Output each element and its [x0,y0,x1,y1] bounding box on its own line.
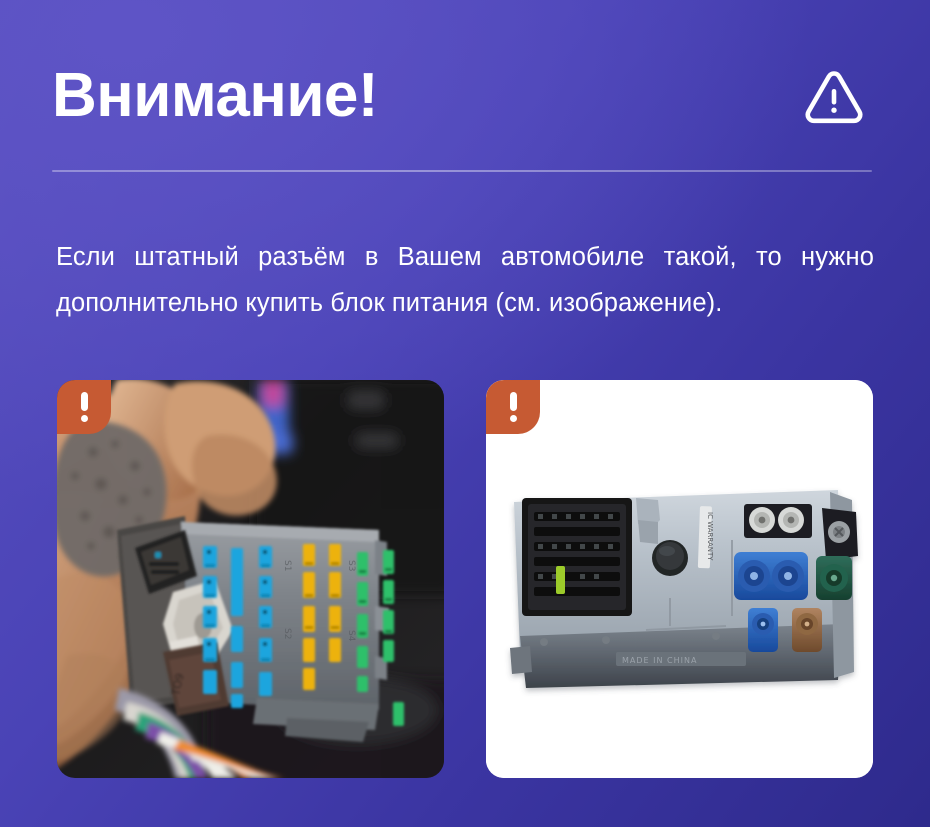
svg-text:S3: S3 [346,560,356,571]
header-divider [52,170,872,172]
exclamation-badge [57,380,111,434]
svg-text:MADE IN CHINA: MADE IN CHINA [622,656,697,665]
image-card-row: TO9 [57,380,873,778]
warning-paragraph: Если штатный разъём в Вашем автомобиле т… [56,234,874,326]
svg-text:IC WARRANTY: IC WARRANTY [706,512,714,561]
svg-text:S1: S1 [282,560,292,571]
exclamation-badge [486,380,540,434]
power-supply-unit-photo: IC WARRANTY [486,380,873,778]
stock-connector-card[interactable]: TO9 [57,380,444,778]
power-supply-unit-card[interactable]: IC WARRANTY [486,380,873,778]
svg-text:S2: S2 [282,628,292,639]
stock-connector-photo: TO9 [57,380,444,778]
page-header: Внимание! [52,48,878,144]
warning-triangle-icon [802,64,866,128]
page-title: Внимание! [52,65,378,127]
svg-text:S4: S4 [346,630,356,642]
exclamation-icon [510,392,517,422]
warning-page: Внимание! Если штатный разъём в Вашем ав… [0,0,930,827]
exclamation-icon [81,392,88,422]
